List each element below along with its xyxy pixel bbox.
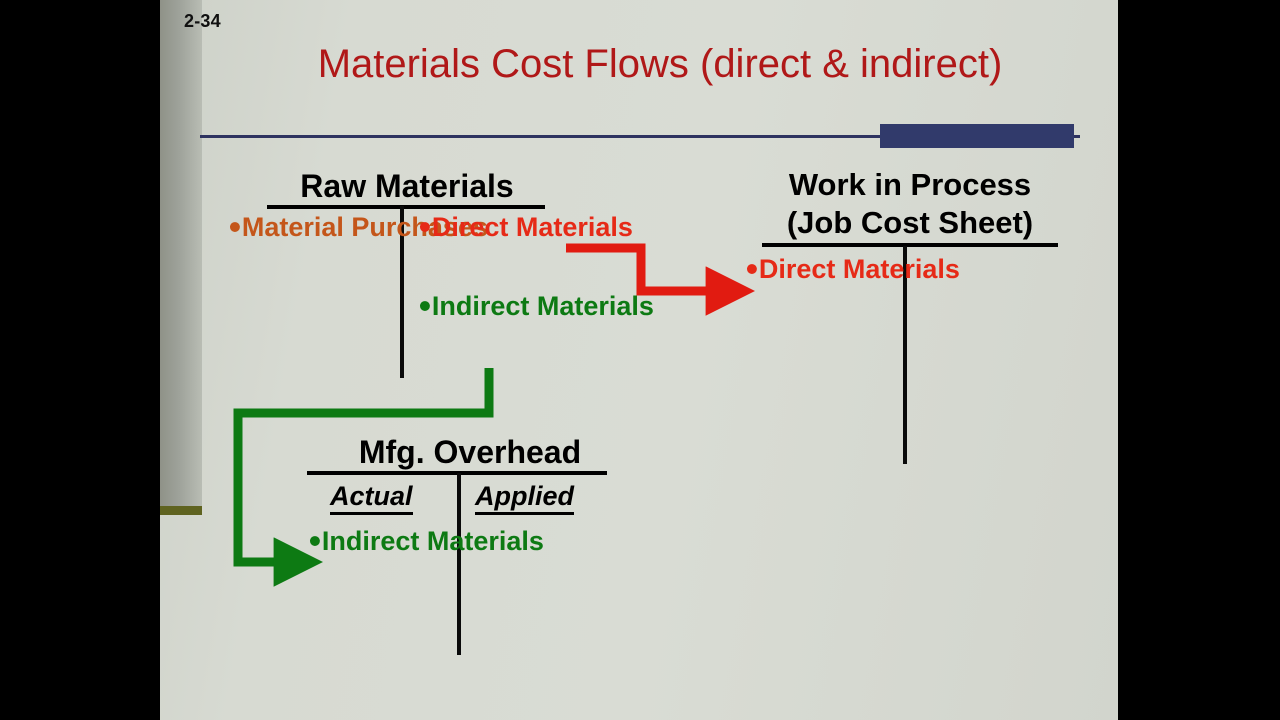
mfg-overhead-divider bbox=[457, 473, 461, 655]
direct-materials-flow-arrow bbox=[566, 248, 711, 291]
left-accent-band-cap bbox=[160, 506, 202, 515]
mfg-overhead-actual-label: Indirect Materials bbox=[322, 526, 544, 556]
left-accent-band bbox=[160, 0, 202, 512]
page-title: Materials Cost Flows (direct & indirect) bbox=[202, 42, 1118, 87]
bullet-icon: ● bbox=[228, 212, 242, 238]
mfg-overhead-column-applied: Applied bbox=[475, 481, 574, 512]
mfg-overhead-column-actual-label: Actual bbox=[330, 481, 413, 515]
work-in-process-debit-entry: ●Direct Materials bbox=[745, 256, 960, 284]
raw-materials-title: Raw Materials bbox=[267, 168, 547, 205]
work-in-process-debit-label: Direct Materials bbox=[759, 254, 960, 284]
mfg-overhead-title: Mfg. Overhead bbox=[325, 434, 615, 471]
slide-number: 2-34 bbox=[184, 11, 221, 32]
raw-materials-underline bbox=[267, 205, 545, 209]
mfg-overhead-column-applied-label: Applied bbox=[475, 481, 574, 515]
raw-materials-credit-label-direct: Direct Materials bbox=[432, 212, 633, 242]
work-in-process-underline bbox=[762, 243, 1058, 247]
raw-materials-credit-entry-direct: ●Direct Materials bbox=[418, 214, 633, 242]
raw-materials-debit-entry: ●Material Purchases bbox=[228, 214, 388, 242]
bullet-icon: ● bbox=[418, 212, 432, 238]
bullet-icon: ● bbox=[418, 291, 432, 317]
bullet-icon: ● bbox=[308, 526, 322, 552]
flow-arrows bbox=[160, 0, 1118, 720]
work-in-process-title: Work in Process (Job Cost Sheet) bbox=[760, 166, 1060, 242]
work-in-process-title-line1: Work in Process bbox=[760, 166, 1060, 204]
work-in-process-title-line2: (Job Cost Sheet) bbox=[760, 204, 1060, 242]
presentation-slide: 2-34 Materials Cost Flows (direct & indi… bbox=[160, 0, 1118, 720]
mfg-overhead-actual-entry: ●Indirect Materials bbox=[308, 528, 544, 556]
raw-materials-credit-entry-indirect: ●Indirect Materials bbox=[418, 293, 654, 321]
mfg-overhead-column-actual: Actual bbox=[330, 481, 413, 512]
bullet-icon: ● bbox=[745, 254, 759, 280]
slide-stage: 2-34 Materials Cost Flows (direct & indi… bbox=[0, 0, 1280, 720]
raw-materials-credit-label-indirect: Indirect Materials bbox=[432, 291, 654, 321]
title-divider-block bbox=[880, 124, 1074, 148]
